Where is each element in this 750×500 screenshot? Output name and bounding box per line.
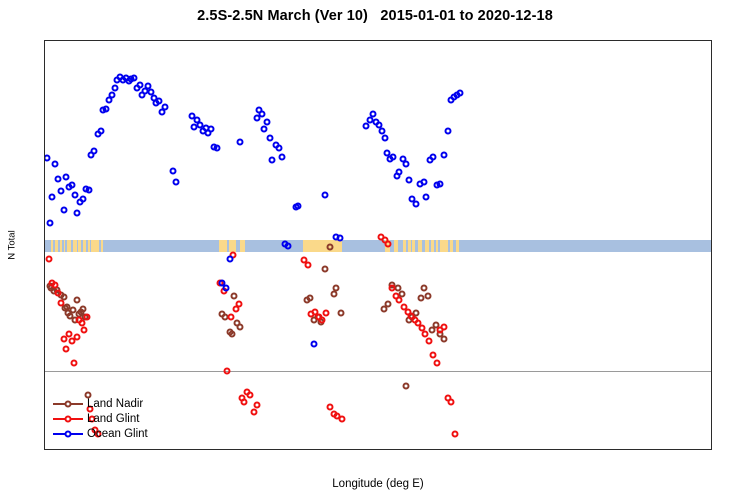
data-point <box>208 126 215 133</box>
data-point <box>46 220 53 227</box>
data-point <box>70 359 77 366</box>
y-tick-mark <box>44 124 45 125</box>
data-point <box>425 293 432 300</box>
data-point <box>74 209 81 216</box>
data-point <box>311 340 318 347</box>
data-point <box>236 139 243 146</box>
data-point <box>421 284 428 291</box>
land-ocean-map-strip <box>45 240 711 252</box>
chart-title: 2.5S-2.5N March (Ver 10) 2015-01-01 to 2… <box>0 8 750 24</box>
data-point <box>385 301 392 308</box>
y-tick-mark <box>44 263 45 264</box>
land-segment <box>101 240 103 252</box>
data-point <box>330 291 337 298</box>
land-segment <box>418 240 422 252</box>
data-point <box>440 151 447 158</box>
land-segment <box>394 240 398 252</box>
data-point <box>83 313 90 320</box>
data-point <box>452 430 459 437</box>
data-point <box>213 145 220 152</box>
data-point <box>73 297 80 304</box>
data-point <box>103 105 110 112</box>
data-point <box>222 284 229 291</box>
data-point <box>417 295 424 302</box>
data-point <box>402 160 409 167</box>
legend-marker <box>65 415 72 422</box>
data-point <box>60 206 67 213</box>
data-point <box>413 201 420 208</box>
legend-symbol <box>53 426 83 441</box>
data-point <box>131 75 138 82</box>
data-point <box>456 90 463 97</box>
data-point <box>333 284 340 291</box>
land-segment <box>55 240 58 252</box>
data-point <box>80 305 87 312</box>
data-point <box>80 327 87 334</box>
data-point <box>444 127 451 134</box>
data-point <box>326 243 333 250</box>
land-segment <box>78 240 81 252</box>
y-axis-title: N Total <box>7 230 18 259</box>
data-point <box>241 398 248 405</box>
reference-line <box>45 371 711 372</box>
data-point <box>227 313 234 320</box>
data-point <box>405 177 412 184</box>
data-point <box>80 196 87 203</box>
data-point <box>385 241 392 248</box>
data-point <box>440 335 447 342</box>
land-segment <box>91 240 98 252</box>
data-point <box>369 111 376 118</box>
land-segment <box>456 240 459 252</box>
land-segment <box>440 240 447 252</box>
legend-label: Ocean Glint <box>87 428 148 440</box>
data-point <box>381 134 388 141</box>
data-point <box>254 402 261 409</box>
data-point <box>426 338 433 345</box>
data-point <box>269 156 276 163</box>
land-segment <box>431 240 434 252</box>
data-point <box>63 174 70 181</box>
legend-symbol <box>53 396 83 411</box>
x-tick-mark <box>128 449 129 450</box>
data-point <box>57 187 64 194</box>
legend-label: Land Nadir <box>87 398 143 410</box>
land-segment <box>450 240 454 252</box>
data-point <box>63 346 70 353</box>
y-tick-mark <box>44 49 45 50</box>
data-point <box>45 255 52 262</box>
data-point <box>79 320 86 327</box>
x-tick-mark <box>295 449 296 450</box>
data-point <box>68 182 75 189</box>
y-tick-mark <box>44 446 45 447</box>
data-point <box>275 145 282 152</box>
data-point <box>402 383 409 390</box>
data-point <box>54 175 61 182</box>
data-point <box>97 128 104 135</box>
data-point <box>429 153 436 160</box>
x-tick-mark <box>212 449 213 450</box>
data-point <box>85 186 92 193</box>
data-point <box>52 160 59 167</box>
data-point <box>429 352 436 359</box>
data-point <box>73 333 80 340</box>
plot-area: 90 E18090 W090 E180 10501005001000500010… <box>44 40 712 450</box>
data-point <box>108 91 115 98</box>
data-point <box>136 81 143 88</box>
chart-legend: Land NadirLand GlintOcean Glint <box>53 396 148 441</box>
land-segment <box>64 240 66 252</box>
y-tick-mark <box>44 156 45 157</box>
legend-symbol <box>53 411 83 426</box>
data-point <box>250 408 257 415</box>
data-point <box>323 309 330 316</box>
data-point <box>231 293 238 300</box>
data-point <box>337 235 344 242</box>
data-point <box>247 391 254 398</box>
data-point <box>319 316 326 323</box>
data-point <box>236 323 243 330</box>
data-point <box>226 255 233 262</box>
land-segment <box>67 240 71 252</box>
data-point <box>307 295 314 302</box>
data-point <box>420 179 427 186</box>
legend-marker <box>65 400 72 407</box>
land-segment <box>88 240 90 252</box>
legend-label: Land Glint <box>87 413 139 425</box>
data-point <box>223 368 230 375</box>
data-point <box>448 398 455 405</box>
y-tick-mark <box>44 371 45 372</box>
data-point <box>229 331 236 338</box>
land-segment <box>219 240 226 252</box>
x-tick-mark <box>45 449 46 450</box>
x-tick-mark <box>462 449 463 450</box>
land-segment <box>73 240 77 252</box>
data-point <box>295 202 302 209</box>
data-point <box>71 191 78 198</box>
land-segment <box>408 240 411 252</box>
land-segment <box>425 240 429 252</box>
data-point <box>263 119 270 126</box>
data-point <box>363 123 370 130</box>
data-point <box>161 104 168 111</box>
data-point <box>235 301 242 308</box>
land-segment <box>51 240 54 252</box>
data-point <box>388 284 395 291</box>
land-segment <box>229 240 236 252</box>
data-point <box>285 242 292 249</box>
land-segment <box>403 240 406 252</box>
data-point <box>433 359 440 366</box>
x-axis-title: Longitude (deg E) <box>44 478 712 490</box>
data-point <box>278 153 285 160</box>
legend-marker <box>65 430 72 437</box>
data-point <box>54 289 61 296</box>
data-point <box>172 179 179 186</box>
data-point <box>111 84 118 91</box>
land-segment <box>412 240 415 252</box>
y-tick-mark <box>44 231 45 232</box>
data-point <box>322 265 329 272</box>
data-point <box>266 134 273 141</box>
data-point <box>389 153 396 160</box>
data-point <box>338 415 345 422</box>
data-point <box>44 154 50 161</box>
y-tick-mark <box>44 338 45 339</box>
land-segment <box>83 240 86 252</box>
data-point <box>57 300 64 307</box>
legend-item-land-nadir[interactable]: Land Nadir <box>53 396 148 411</box>
legend-item-ocean-glint[interactable]: Ocean Glint <box>53 426 148 441</box>
data-point <box>396 169 403 176</box>
land-segment <box>303 240 342 252</box>
data-point <box>260 126 267 133</box>
chart-root: 2.5S-2.5N March (Ver 10) 2015-01-01 to 2… <box>0 0 750 500</box>
legend-item-land-glint[interactable]: Land Glint <box>53 411 148 426</box>
data-point <box>304 261 311 268</box>
land-segment <box>436 240 439 252</box>
data-point <box>49 194 56 201</box>
data-point <box>437 180 444 187</box>
x-tick-mark <box>379 449 380 450</box>
land-segment <box>60 240 62 252</box>
data-point <box>423 194 430 201</box>
data-point <box>322 191 329 198</box>
data-point <box>52 281 59 288</box>
data-point <box>91 148 98 155</box>
data-point <box>440 323 447 330</box>
data-point <box>337 309 344 316</box>
land-segment <box>240 240 246 252</box>
data-point <box>259 111 266 118</box>
data-point <box>170 167 177 174</box>
